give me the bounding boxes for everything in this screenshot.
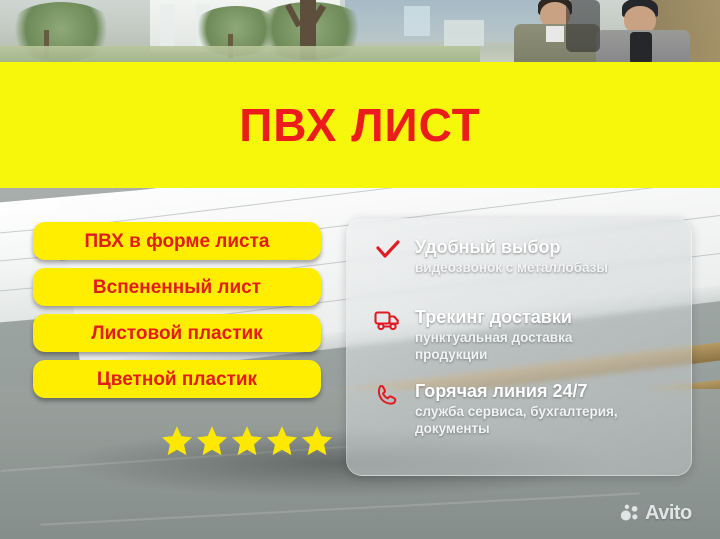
photo-top-strip — [0, 0, 720, 64]
window — [404, 6, 430, 36]
feature-subtitle: служба сервиса, бухгалтерия, документы — [415, 404, 665, 438]
truck-icon — [373, 307, 403, 333]
product-tag-2[interactable]: Листовой пластик — [33, 314, 321, 352]
feature-title: Удобный выбор — [415, 237, 679, 258]
person-background — [566, 0, 600, 52]
product-tag-label: Цветной пластик — [97, 370, 257, 389]
listing-image: ПВХ ЛИСТ ПВХ в форме листа Вспененный ли… — [0, 0, 720, 539]
phone-icon — [373, 381, 403, 409]
window — [160, 4, 174, 48]
star-icon — [300, 424, 334, 458]
star-icon — [195, 424, 229, 458]
product-tag-list: ПВХ в форме листа Вспененный лист Листов… — [33, 222, 323, 406]
feature-subtitle: пунктуальная доставка продукции — [415, 330, 625, 364]
feature-title: Трекинг доставки — [415, 307, 679, 328]
feature-item-0: Удобный выбор видеозвонок с металлобазы — [373, 237, 679, 277]
product-tag-3[interactable]: Цветной пластик — [33, 360, 321, 398]
person — [588, 0, 698, 64]
product-tag-label: Вспененный лист — [93, 278, 261, 297]
star-icon — [265, 424, 299, 458]
check-icon — [373, 237, 403, 261]
avito-watermark: Avito — [620, 503, 692, 523]
feature-title: Горячая линия 24/7 — [415, 381, 685, 402]
avito-dots-icon — [620, 503, 640, 523]
product-tag-0[interactable]: ПВХ в форме листа — [33, 222, 321, 260]
feature-item-1: Трекинг доставки пунктуальная доставка п… — [373, 307, 679, 363]
shirt — [546, 26, 564, 42]
star-icon — [230, 424, 264, 458]
feature-subtitle: видеозвонок с металлобазы — [415, 260, 679, 277]
inner-shirt — [630, 32, 652, 64]
page-title: ПВХ ЛИСТ — [0, 102, 720, 148]
star-icon — [160, 424, 194, 458]
feature-item-2: Горячая линия 24/7 служба сервиса, бухга… — [373, 381, 685, 437]
rating-stars — [160, 424, 334, 458]
features-panel: Удобный выбор видеозвонок с металлобазы … — [346, 218, 692, 476]
product-tag-label: ПВХ в форме листа — [85, 232, 270, 251]
headline-banner: ПВХ ЛИСТ — [0, 62, 720, 188]
product-tag-label: Листовой пластик — [91, 324, 262, 343]
window — [444, 20, 484, 46]
product-tag-1[interactable]: Вспененный лист — [33, 268, 321, 306]
avito-label: Avito — [645, 503, 692, 523]
